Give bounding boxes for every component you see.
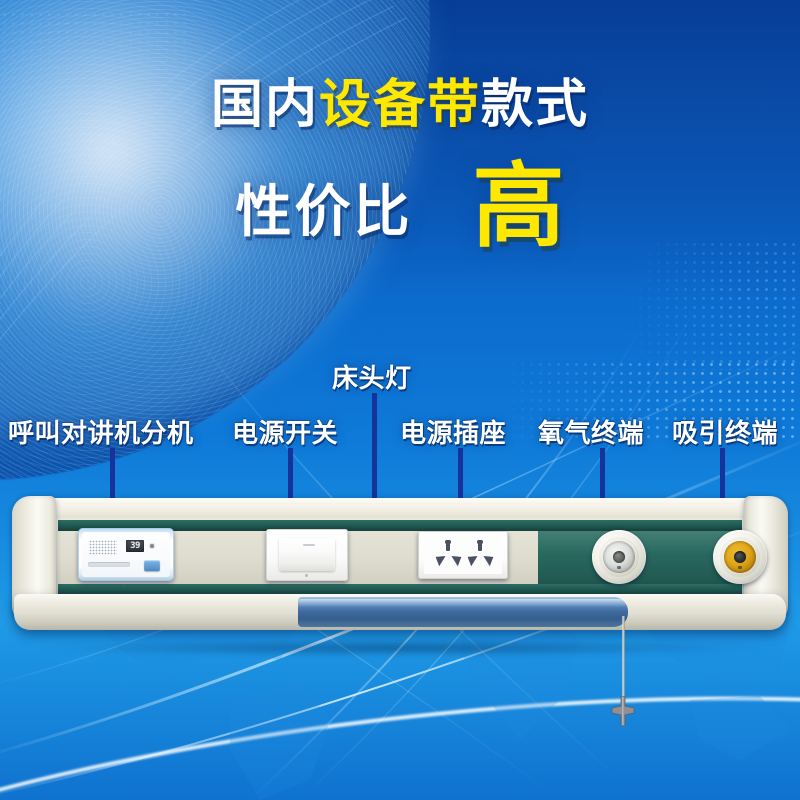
callout-label-power-socket: 电源插座	[400, 413, 506, 450]
pull-cord[interactable]	[622, 616, 625, 706]
callout-label-oxygen: 氧气终端	[538, 413, 644, 450]
socket-pin-right	[483, 552, 496, 566]
switch-marking	[303, 544, 315, 546]
terminal-socket-core[interactable]	[613, 551, 625, 563]
suction-terminal-outlet[interactable]	[713, 530, 767, 584]
intercom-call-button[interactable]	[144, 560, 160, 571]
power-socket-unit[interactable]	[418, 531, 508, 579]
indicator-led-icon	[150, 544, 154, 548]
socket-pin-top	[478, 542, 482, 551]
socket-pin-left	[432, 552, 445, 566]
socket-outlet-1[interactable]	[432, 542, 465, 568]
terminal-face	[603, 541, 635, 573]
panel-top-lip	[18, 498, 782, 518]
socket-faceplate	[424, 536, 502, 574]
socket-pin-left	[464, 552, 477, 566]
callout-label-suction: 吸引终端	[672, 413, 778, 450]
nurse-call-intercom-unit[interactable]: 39	[78, 528, 174, 581]
intercom-display: 39	[126, 540, 144, 552]
power-switch-unit[interactable]	[266, 529, 348, 581]
rocker-switch[interactable]	[279, 538, 335, 571]
callout-label-power-switch: 电源开关	[232, 413, 338, 450]
speaker-grille-icon	[89, 540, 117, 555]
intercom-face: 39	[82, 532, 170, 577]
terminal-index-tick	[617, 566, 621, 569]
switch-screw	[305, 574, 308, 577]
terminal-face	[724, 541, 756, 573]
callout-layer: 呼叫对讲机分机 电源开关 床头灯 电源插座 氧气终端 吸引终端	[0, 0, 800, 800]
socket-pin-right	[451, 552, 464, 566]
oxygen-terminal-outlet[interactable]	[592, 530, 646, 584]
callout-label-bed-lamp: 床头灯	[332, 358, 412, 395]
promo-banner: 国内设备带款式 性价比 高 呼叫对讲机分机 电源开关 床头灯 电源插座 氧气终端…	[0, 0, 800, 800]
socket-outlet-2[interactable]	[464, 542, 497, 568]
panel-blue-insert	[298, 597, 628, 627]
intercom-slot	[88, 562, 130, 567]
pull-cord-hook-icon[interactable]	[610, 696, 636, 726]
terminal-index-tick	[738, 566, 742, 569]
socket-pin-top	[446, 542, 450, 551]
panel-screw	[123, 584, 126, 587]
terminal-socket-core[interactable]	[734, 551, 746, 563]
medical-bedhead-panel: 39	[18, 498, 782, 643]
callout-label-intercom: 呼叫对讲机分机	[8, 413, 194, 450]
